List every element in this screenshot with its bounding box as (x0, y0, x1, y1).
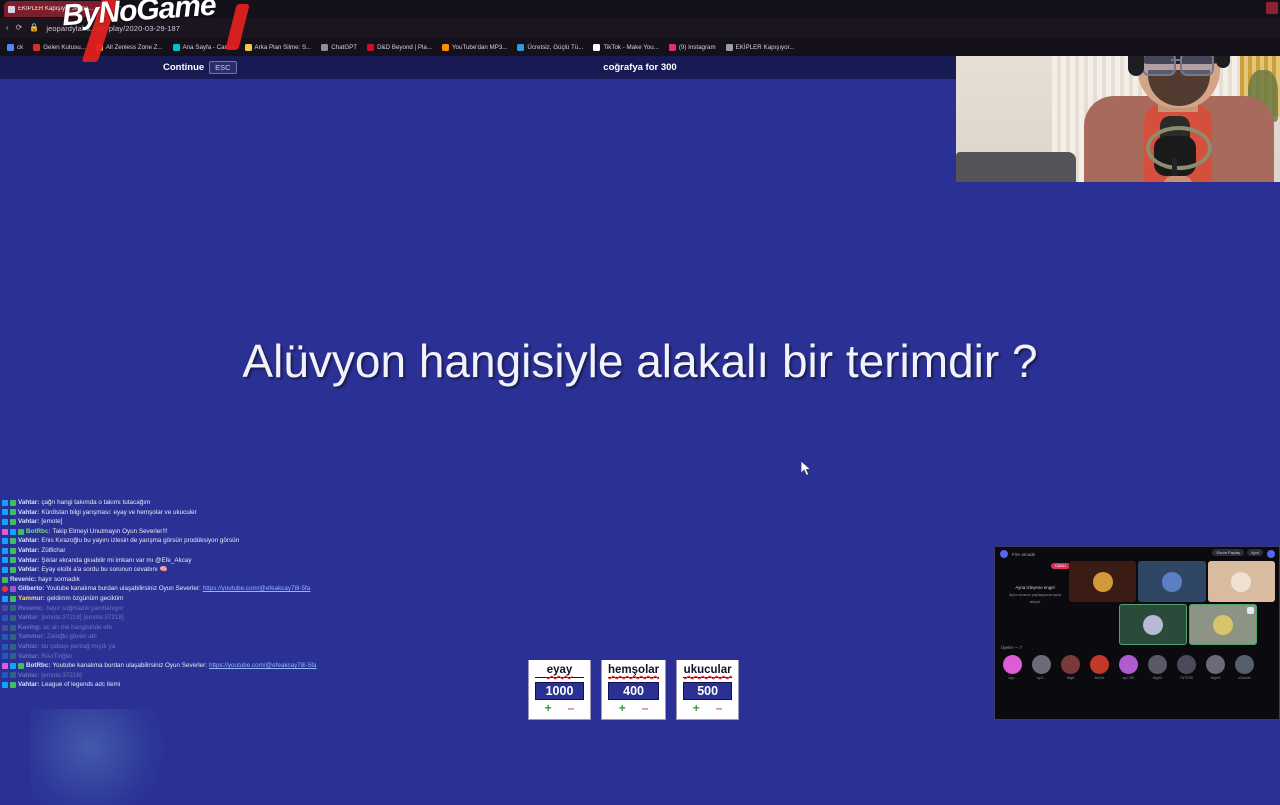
call-member-name: ayı2... (1030, 676, 1053, 680)
chat-message: Yammur: geldimm özgünüm geciktim (2, 594, 332, 604)
chat-text: Eyay elcibi a'a sordu bu sorunun cevabın… (41, 565, 167, 575)
chat-username[interactable]: Vahtar: (18, 652, 39, 662)
chat-message: Vahtar: Şıklar ekranda gkıabilir mi imka… (2, 556, 332, 566)
browser-urlbar: ‹ ⟳ 🔒 jeopardylabs.com/play/2020-03-29-1… (0, 18, 1280, 38)
bookmark-favicon-icon (173, 44, 180, 51)
chat-text: League of legends adc itemi (41, 680, 120, 690)
chat-text: [emote] (41, 517, 62, 527)
bookmark-label: Arka Plan Silme: S... (255, 44, 312, 51)
bookmark-item[interactable]: TikTok - Make You... (588, 38, 663, 56)
bookmark-item[interactable]: (9) Instagram (664, 38, 721, 56)
bookmark-favicon-icon (321, 44, 328, 51)
team-name[interactable]: ukucular (683, 664, 732, 678)
vip-badge-icon (2, 663, 8, 669)
team-score[interactable]: 400 (608, 682, 659, 700)
call-member-name: kirmizi (1088, 676, 1111, 680)
chat-message: Yammur: Zaloğlu güven abi (2, 632, 332, 642)
chat-username[interactable]: BotRbc: (26, 527, 50, 537)
chat-text: [emote:37218] [emote:37218] (41, 613, 123, 623)
score-buttons: +– (535, 703, 584, 713)
avatar (1235, 655, 1254, 674)
bookmark-label: EKİPLER Kapışıyor... (736, 44, 795, 51)
bookmark-label: Ana Sayfa - Canva (183, 44, 235, 51)
sub-badge-icon (2, 653, 8, 659)
call-members-label: Üyeler — 7 (1001, 645, 1022, 650)
chat-message: Vahtar: Eyay elcibi a'a sordu bu sorunun… (2, 565, 332, 575)
score-plus-button[interactable]: + (619, 703, 626, 713)
chat-text: hayır sormadık (38, 575, 80, 585)
discord-call-overlay[interactable]: Fire arcade Ekran PaylaşAyrıl CANLI Ayna… (994, 546, 1280, 720)
chat-username[interactable]: Vahtar: (18, 642, 39, 652)
sub-badge-icon (2, 509, 8, 515)
back-icon[interactable]: ‹ (6, 24, 9, 32)
chat-username[interactable]: Vahtar: (18, 565, 39, 575)
streamer-glasses-bridge (1171, 59, 1182, 61)
chat-username[interactable]: Kaving: (18, 623, 41, 633)
chat-message: Gilberto: Youtube kanalıma burdan ulaşab… (2, 584, 332, 594)
mod-badge-icon (10, 605, 16, 611)
call-tile-avatar (1143, 615, 1163, 635)
call-side-note: Ayna izleyene engel Ayna ekranını paylaş… (1003, 585, 1067, 605)
call-member-name: TNTRSK (1175, 676, 1198, 680)
call-action-button[interactable]: Ekran Paylaş (1212, 549, 1244, 556)
score-minus-button[interactable]: – (716, 703, 723, 713)
mod-badge-icon (10, 538, 16, 544)
bookmark-label: ChatGPT (331, 44, 357, 51)
bookmark-label: ck (17, 44, 23, 51)
mod-badge-icon (10, 548, 16, 554)
score-minus-button[interactable]: – (642, 703, 649, 713)
bookmark-favicon-icon (442, 44, 449, 51)
bookmark-label: TikTok - Make You... (603, 44, 658, 51)
bookmark-item[interactable]: D&D Beyond | Pla... (362, 38, 437, 56)
chat-message: Vahtar: Enis Kırazoğlu bu yayını izlesin… (2, 536, 332, 546)
chat-message: Vahtar: Kürdistan bilgi yarışması: eyay … (2, 508, 332, 518)
mod-badge-icon (10, 596, 16, 602)
call-member-name: bilgili2 (1146, 676, 1169, 680)
call-member-name: bilgin3 (1204, 676, 1227, 680)
bookmarks-bar: ckGelen Kutusu...All Zenless Zone Z...An… (0, 38, 1280, 56)
call-member[interactable]: sıZamer (1233, 655, 1256, 680)
browser-tabstrip: EKİPLER Kapışıyor Jeopa... + (0, 0, 1280, 18)
call-members-list: ayş...ayı2...bilgilikirmiziayı1 REbilgil… (1001, 655, 1275, 680)
bookmark-item[interactable]: Arka Plan Silme: S... (240, 38, 317, 56)
chat-message: Vahtar: RAoTinğler (2, 652, 332, 662)
chat-username[interactable]: Revenic: (10, 575, 36, 585)
chat-message: Vahtar: League of legends adc itemi (2, 680, 332, 690)
call-members-header: Üyeler — 7 (1001, 645, 1275, 650)
bookmark-favicon-icon (669, 44, 676, 51)
avatar (1177, 655, 1196, 674)
call-tile[interactable] (1069, 561, 1136, 602)
vip-badge-icon (2, 529, 8, 535)
lock-icon (1247, 607, 1254, 614)
chat-username[interactable]: Vahtar: (18, 508, 39, 518)
bookmark-label: Ücretsiz, Güçlü Tü... (527, 44, 583, 51)
chat-username[interactable]: Vahtar: (18, 546, 39, 556)
chat-username[interactable]: Yammur: (18, 632, 45, 642)
chat-username[interactable]: Vahtar: (18, 680, 39, 690)
call-tile[interactable] (1208, 561, 1275, 602)
chat-text: çağrı hangi takımda o takımı tutacağım (41, 498, 150, 508)
bookmark-favicon-icon (33, 44, 40, 51)
chat-username[interactable]: Vahtar: (18, 498, 39, 508)
sub-badge-icon (10, 529, 16, 535)
bookmark-item[interactable]: YouTube'dan MP3... (437, 38, 512, 56)
mod-badge-icon (10, 567, 16, 573)
call-member[interactable]: bilgili2 (1146, 655, 1169, 680)
call-member-name: ayş... (1001, 676, 1024, 680)
sub-badge-icon (2, 548, 8, 554)
bookmark-label: (9) Instagram (679, 44, 716, 51)
chat-text: geldimm özgünüm geciktim (47, 594, 123, 604)
team-score[interactable]: 500 (683, 682, 732, 700)
chat-text: [emote:37218] (41, 671, 81, 681)
reload-icon[interactable]: ⟳ (16, 24, 23, 32)
mod-badge-icon (10, 672, 16, 678)
sub-badge-icon (2, 557, 8, 563)
bookmark-favicon-icon (517, 44, 524, 51)
chat-username[interactable]: Vahtar: (18, 517, 39, 527)
sub-badge-icon (2, 538, 8, 544)
esc-key-hint: ESC (209, 61, 236, 74)
team-score[interactable]: 1000 (535, 682, 584, 700)
mod-badge-icon (10, 509, 16, 515)
chat-message: Vahtar: [emote:37218] (2, 671, 332, 681)
sub-badge-icon (2, 634, 8, 640)
sub-badge-icon (2, 672, 8, 678)
call-note-line3: izleyici (1003, 600, 1067, 605)
call-tile-row-2 (1119, 604, 1257, 645)
call-server-icon (1000, 550, 1008, 558)
call-user-avatar[interactable] (1267, 550, 1275, 558)
chat-link[interactable]: https://youtube.com/@efeakcay78l-5fa (203, 584, 311, 594)
avatar (1003, 655, 1022, 674)
chat-username[interactable]: Yammur: (18, 594, 45, 604)
bookmark-favicon-icon (96, 44, 103, 51)
mod-badge-icon (18, 663, 24, 669)
sub-badge-icon (2, 682, 8, 688)
chat-message: Vahtar: [emote:37218] [emote:37218] (2, 613, 332, 623)
chat-text: Takip Etmeyi Unutmayın Oyun Severler!!! (52, 527, 167, 537)
bookmark-label: D&D Beyond | Pla... (377, 44, 432, 51)
avatar (1090, 655, 1109, 674)
avatar (1032, 655, 1051, 674)
bookmark-favicon-icon (7, 44, 14, 51)
bookmark-favicon-icon (367, 44, 374, 51)
webcam-sofa (956, 152, 1076, 182)
sub-badge-icon (2, 567, 8, 573)
call-tile[interactable] (1119, 604, 1187, 645)
mod-badge-icon (10, 653, 16, 659)
call-tile-avatar (1162, 572, 1182, 592)
chat-username[interactable]: Vahtar: (18, 613, 39, 623)
chat-message: Vahtar: çağrı hangi takımda o takımı tut… (2, 498, 332, 508)
score-buttons: +– (683, 703, 732, 713)
call-tile-avatar (1093, 572, 1113, 592)
call-action-pills[interactable]: Ekran PaylaşAyrıl (1212, 549, 1263, 556)
stream-chat-overlay: Vahtar: çağrı hangi takımda o takımı tut… (2, 498, 332, 690)
chat-message: Vahtar: [emote] (2, 517, 332, 527)
bookmark-favicon-icon (593, 44, 600, 51)
sub-badge-icon (2, 615, 8, 621)
score-minus-button[interactable]: – (568, 703, 575, 713)
red-badge-icon (2, 586, 8, 592)
sub-badge-icon (10, 663, 16, 669)
chat-message: BotRbc: Takip Etmeyi Unutmayın Oyun Seve… (2, 527, 332, 537)
chat-username[interactable]: Vahtar: (18, 556, 39, 566)
chat-text: Zaloğlu güven abi (47, 632, 97, 642)
call-note-line2: Ayna ekranını paylaşıyorsa ayna (1003, 593, 1067, 598)
call-video-tiles (1069, 561, 1275, 647)
chat-link[interactable]: https://youtube.com/@efeakcay78l-5fa (209, 661, 317, 671)
chat-message: Kaving: ac arı me hangisinde efe (2, 623, 332, 633)
chat-badge-icon (2, 605, 8, 611)
chat-text: Youtube kanalıma burdan ulaşabilirsiniz … (52, 661, 206, 671)
call-tile[interactable] (1189, 604, 1257, 645)
chat-message: Revenic: hayır sormadık (2, 575, 332, 585)
team-name[interactable]: eyay (535, 664, 584, 678)
bookmark-item[interactable]: EKİPLER Kapışıyor... (721, 38, 800, 56)
bookmark-item[interactable]: All Zenless Zone Z... (91, 38, 168, 56)
chat-username[interactable]: BotRbc: (26, 661, 50, 671)
bookmark-item[interactable]: ck (2, 38, 28, 56)
call-tile-avatar (1231, 572, 1251, 592)
score-plus-button[interactable]: + (693, 703, 700, 713)
mod-badge-icon (10, 519, 16, 525)
call-member-name: ayı1 RE (1117, 676, 1140, 680)
avatar (1119, 655, 1138, 674)
chat-text: ac arı me hangisinde efe (43, 623, 112, 633)
bookmark-item[interactable]: Ücretsiz, Güçlü Tü... (512, 38, 588, 56)
chat-username[interactable]: Gilberto: (18, 584, 44, 594)
mod-badge-icon (2, 577, 8, 583)
sub-badge-icon (2, 596, 8, 602)
score-plus-button[interactable]: + (545, 703, 552, 713)
chat-username[interactable]: Vahtar: (18, 671, 39, 681)
call-action-button[interactable]: Ayrıl (1247, 549, 1263, 556)
avatar (1148, 655, 1167, 674)
call-title: Fire arcade (1012, 552, 1035, 557)
bookmark-label: All Zenless Zone Z... (106, 44, 163, 51)
call-member[interactable]: ayı1 RE (1117, 655, 1140, 680)
chat-text: Zülfichar (41, 546, 65, 556)
mod-badge-icon (10, 634, 16, 640)
call-member-name: sıZamer (1233, 676, 1256, 680)
browser-chrome: EKİPLER Kapışıyor Jeopa... + ‹ ⟳ 🔒 jeopa… (0, 0, 1280, 56)
chat-message: Vahtar: bu çabayı pentağ mıydı ya (2, 642, 332, 652)
mod-badge-icon (10, 625, 16, 631)
call-member[interactable]: ayş... (1001, 655, 1024, 680)
chat-text: Kürdistan bilgi yarışması: eyay ve hemşo… (41, 508, 196, 518)
call-note-line1: Ayna izleyene engel (1003, 585, 1067, 591)
chat-text: Youtube kanalıma burdan ulaşabilirsiniz … (46, 584, 200, 594)
chat-text: hayır soğmadık yanıtlanıyor (46, 604, 123, 614)
mouse-cursor (801, 461, 813, 477)
continue-control[interactable]: Continue ESC (163, 56, 237, 79)
tab-title: EKİPLER Kapışıyor Jeopa... (18, 6, 93, 12)
continue-label: Continue (163, 62, 204, 73)
bookmark-item[interactable]: ChatGPT (316, 38, 362, 56)
chat-text: RAoTinğler (41, 652, 72, 662)
score-buttons: +– (608, 703, 659, 713)
new-tab-button[interactable]: + (116, 3, 121, 12)
mod-badge-icon (10, 500, 16, 506)
sub-badge-icon (2, 644, 8, 650)
bookmark-item[interactable]: Gelen Kutusu... (28, 38, 91, 56)
score-card: ukucular500+– (676, 660, 739, 720)
chat-username[interactable]: Vahtar: (18, 536, 39, 546)
call-tile-avatar (1213, 615, 1233, 635)
mod-badge-icon (10, 682, 16, 688)
bookmark-favicon-icon (245, 44, 252, 51)
call-tile-row-1 (1069, 561, 1275, 602)
mod-badge-icon (10, 615, 16, 621)
tab-favicon-icon (8, 6, 15, 13)
live-badge: CANLI (1051, 563, 1070, 569)
chat-message: Revenic: hayır soğmadık yanıtlanıyor (2, 604, 332, 614)
chat-text: bu çabayı pentağ mıydı ya (41, 642, 115, 652)
clue-header-text: coğrafya for 300 (603, 62, 676, 73)
call-member[interactable]: kirmizi (1088, 655, 1111, 680)
call-member-name: bilgili (1059, 676, 1082, 680)
chat-text: Enis Kırazoğlu bu yayını izlesin de yarı… (41, 536, 239, 546)
chat-badge-icon (2, 625, 8, 631)
streamer-hand (1164, 176, 1192, 182)
call-member[interactable]: TNTRSK (1175, 655, 1198, 680)
call-member[interactable]: ayı2... (1030, 655, 1053, 680)
chat-text: Şıklar ekranda gkıabilir mi imkanı var m… (41, 556, 191, 566)
call-tile[interactable] (1138, 561, 1205, 602)
sub-badge-icon (2, 500, 8, 506)
chat-message: BotRbc: Youtube kanalıma burdan ulaşabil… (2, 661, 332, 671)
call-member[interactable]: bilgili (1059, 655, 1082, 680)
bookmark-item[interactable]: Ana Sayfa - Canva (168, 38, 240, 56)
mod-badge-icon (10, 644, 16, 650)
call-member[interactable]: bilgin3 (1204, 655, 1227, 680)
avatar (1061, 655, 1080, 674)
browser-tab[interactable]: EKİPLER Kapışıyor Jeopa... (4, 1, 108, 17)
sub-badge-icon (2, 519, 8, 525)
mod-badge-icon (10, 557, 16, 563)
score-card: hemşolar400+– (601, 660, 666, 720)
team-name[interactable]: hemşolar (608, 664, 659, 678)
watermark-glow (30, 709, 180, 805)
clue-question-text: Alüvyon hangisiyle alakalı bir terimdir … (0, 334, 1280, 388)
avatar (1206, 655, 1225, 674)
scoreboard: eyay1000+–hemşolar400+–ukucular500+– (528, 660, 739, 720)
window-controls[interactable] (1266, 2, 1278, 14)
bookmark-label: YouTube'dan MP3... (452, 44, 507, 51)
microphone-shockmount (1146, 126, 1212, 170)
bookmark-favicon-icon (726, 44, 733, 51)
bookmark-label: Gelen Kutusu... (43, 44, 86, 51)
chat-message: Vahtar: Zülfichar (2, 546, 332, 556)
verified-badge-icon (10, 586, 16, 592)
mod-badge-icon (18, 529, 24, 535)
score-card: eyay1000+– (528, 660, 591, 720)
lock-icon: 🔒 (29, 24, 39, 32)
url-text[interactable]: jeopardylabs.com/play/2020-03-29-187 (46, 24, 180, 33)
chat-username[interactable]: Revenic: (18, 604, 44, 614)
